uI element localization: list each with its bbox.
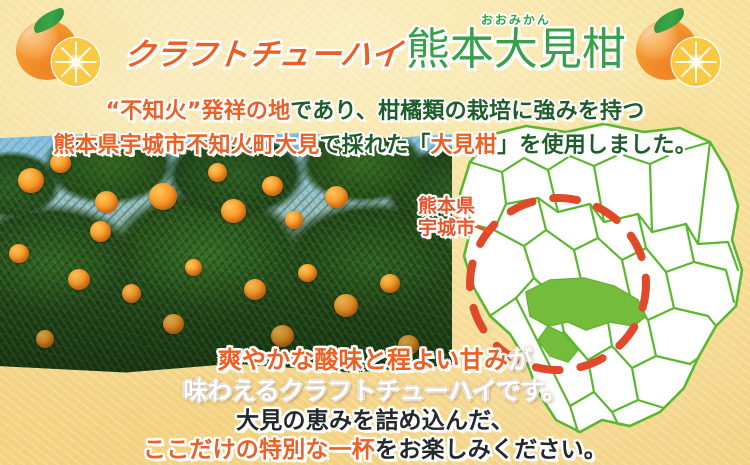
title-main-with-ruby: おおみかん 熊本大見柑 xyxy=(406,14,626,71)
lead-line-2-part-2: で採れた「 xyxy=(319,133,430,158)
map-callout-label: 熊本県 宇城市 xyxy=(418,196,475,240)
advertisement-banner: クラフトチューハイ おおみかん 熊本大見柑 “不知火”発祥の地であり、柑橘類の栽… xyxy=(0,0,750,465)
page-title: クラフトチューハイ おおみかん 熊本大見柑 xyxy=(0,14,750,71)
bottom-line-4: ここだけの特別な一杯をお楽しみください。 xyxy=(0,430,750,464)
map-label-city: 宇城市 xyxy=(418,218,475,240)
lead-line-2-part-1: 熊本県宇城市不知火町大見 xyxy=(53,133,319,158)
lead-line-2: 熊本県宇城市不知火町大見で採れた「大見柑」を使用しました。 xyxy=(0,127,750,159)
title-craft-chuhai: クラフトチューハイ xyxy=(122,40,403,71)
lead-line-1-part-1: “不知火”発祥の地 xyxy=(106,99,291,124)
bottom-line-1: 爽やかな酸味と程よい甘みが xyxy=(0,340,750,375)
lead-line-2-part-4: 」を使用しました。 xyxy=(497,133,697,158)
title-product-name: 熊本大見柑 xyxy=(406,28,626,71)
bottom-line-4-part-1: ここだけの特別な一杯 xyxy=(143,437,375,463)
bottom-line-1-part-2: が xyxy=(508,346,532,374)
bottom-line-1-part-1: 爽やかな酸味と程よい甘み xyxy=(218,346,508,374)
lead-line-1: “不知火”発祥の地であり、柑橘類の栽培に強みを持つ xyxy=(0,93,750,125)
lead-line-2-part-3: 大見柑 xyxy=(431,133,498,158)
map-label-prefecture: 熊本県 xyxy=(418,196,475,218)
bottom-line-4-part-2: をお楽しみください。 xyxy=(375,437,607,463)
lead-line-1-part-2: であり、柑橘類の栽培に強みを持つ xyxy=(290,99,644,124)
